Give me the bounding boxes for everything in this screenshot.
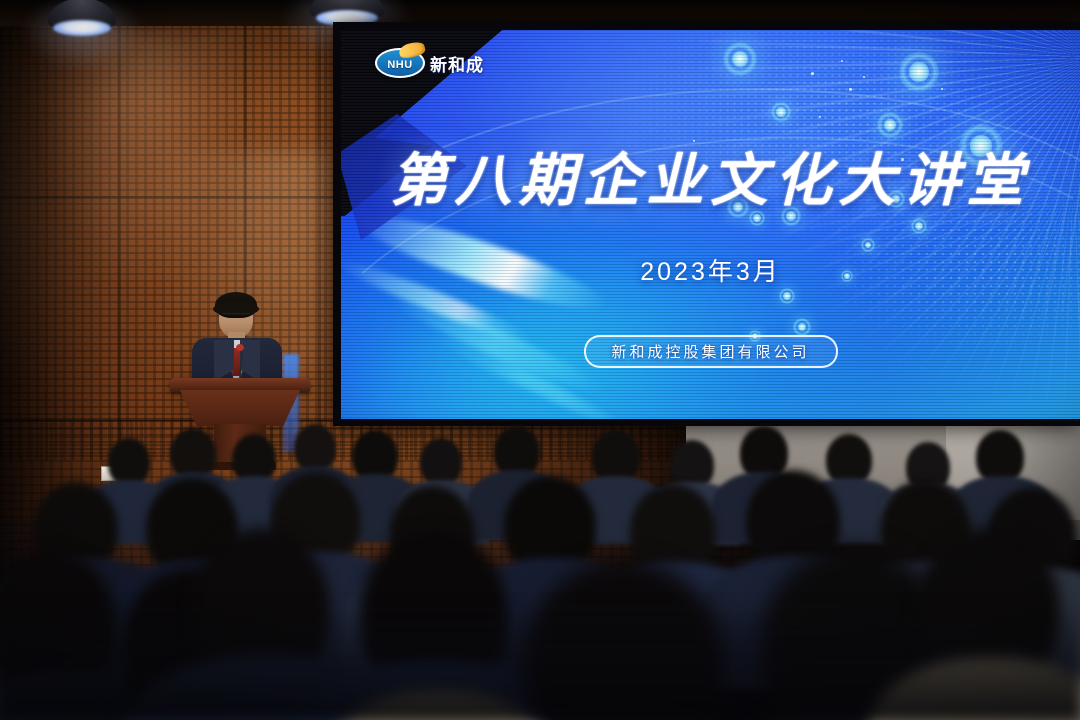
pendant-light-left xyxy=(48,0,116,38)
conference-photo: NHU 新和成 第八期企业文化大讲堂 2023年3月 新和成控股集团有限公司 xyxy=(0,0,1080,720)
audience-head xyxy=(420,438,462,486)
slide-date: 2023年3月 xyxy=(341,252,1080,288)
led-screen: NHU 新和成 第八期企业文化大讲堂 2023年3月 新和成控股集团有限公司 xyxy=(341,30,1080,419)
seated-audience xyxy=(0,400,1080,720)
slide-bokeh-dot xyxy=(779,288,795,304)
slide-company-badge: 新和成控股集团有限公司 xyxy=(583,335,837,368)
audience-head xyxy=(108,438,150,486)
slide-bokeh-dot xyxy=(911,218,927,234)
brand-logo: NHU 新和成 xyxy=(375,48,484,78)
slide-bokeh-dot xyxy=(861,238,875,252)
logo-mark-text: NHU xyxy=(387,59,412,71)
slide-bokeh-dot xyxy=(771,102,791,122)
slide-title: 第八期企业文化大讲堂 xyxy=(341,135,1080,217)
light-glow xyxy=(53,20,110,36)
lectern-top xyxy=(170,378,310,392)
speaker-glasses xyxy=(222,313,250,320)
microphone-head-icon xyxy=(236,344,244,351)
slide-bokeh-dot xyxy=(723,42,757,76)
logo-brand-text: 新和成 xyxy=(430,51,484,76)
audience-head xyxy=(294,424,336,472)
slide-bokeh-dot xyxy=(899,52,939,92)
nhu-badge-icon: NHU xyxy=(375,48,425,78)
slide-bokeh-dot xyxy=(793,318,811,336)
foreground-shadow xyxy=(0,600,1080,720)
